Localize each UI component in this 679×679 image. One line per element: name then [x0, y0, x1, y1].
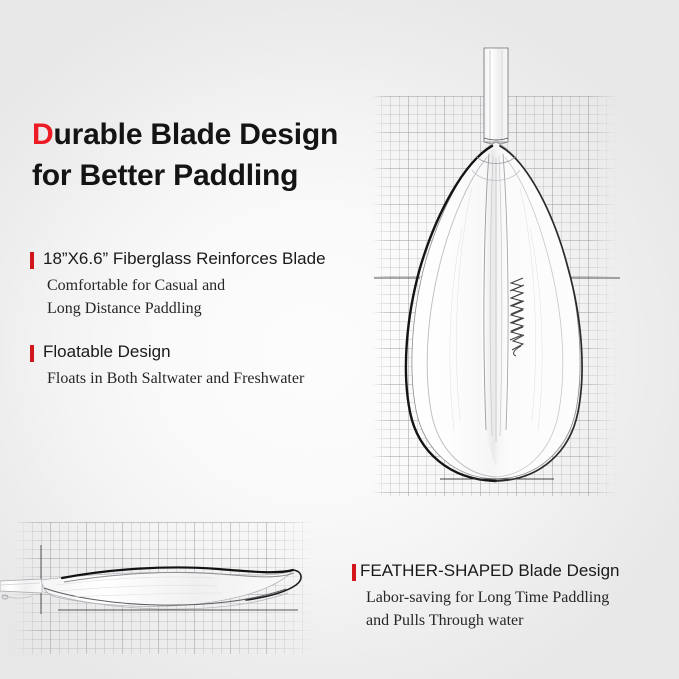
feature-description: Labor-saving for Long Time Paddling and …	[366, 586, 672, 632]
blueprint-grid-top	[372, 96, 618, 496]
feature-title: FEATHER-SHAPED Blade Design	[360, 561, 620, 581]
headline-line1: urable Blade Design	[53, 118, 338, 151]
shaft-stub	[0, 579, 42, 599]
blade-tip-curl	[246, 570, 301, 600]
feature-description: Floats in Both Saltwater and Freshwater	[47, 367, 380, 390]
fiber-texture	[450, 188, 542, 430]
feature-description-line: Long Distance Paddling	[47, 297, 380, 320]
headline-line2: for Better Paddling	[32, 159, 298, 192]
feature-item-fiberglass: 18”X6.6” Fiberglass Reinforces Blade Com…	[30, 249, 380, 320]
blueprint-grid-bottom	[14, 522, 314, 654]
blade-body	[406, 142, 582, 481]
feature-description-line: and Pulls Through water	[366, 609, 672, 632]
feature-description-line: Floats in Both Saltwater and Freshwater	[47, 367, 380, 390]
blade-side-illustration	[0, 525, 330, 645]
blade-side-body	[41, 571, 292, 606]
bullet-bar-icon	[30, 252, 34, 269]
bullet-bar-icon	[352, 564, 356, 581]
bullet-bar-icon	[30, 345, 34, 362]
headline-dropcap: D	[32, 118, 53, 151]
feature-title: Floatable Design	[43, 342, 171, 362]
feature-description: Comfortable for Casual and Long Distance…	[47, 274, 380, 320]
feature-description-line: Comfortable for Casual and	[47, 274, 380, 297]
feature-title: 18”X6.6” Fiberglass Reinforces Blade	[43, 249, 326, 269]
blade-top-edge	[62, 567, 293, 578]
feature-description-line: Labor-saving for Long Time Paddling	[366, 586, 672, 609]
feature-item-floatable: Floatable Design Floats in Both Saltwate…	[30, 342, 380, 390]
blade-front-illustration	[372, 38, 622, 498]
paddle-shaft	[484, 48, 508, 144]
page-title: Durable Blade Design for Better Paddling	[32, 114, 382, 196]
blade-spine	[472, 150, 520, 468]
feature-item-feather-shaped: FEATHER-SHAPED Blade Design Labor-saving…	[352, 561, 672, 632]
brand-wordmark-icon	[504, 272, 530, 358]
infographic-canvas: Durable Blade Design for Better Paddling…	[0, 0, 679, 679]
